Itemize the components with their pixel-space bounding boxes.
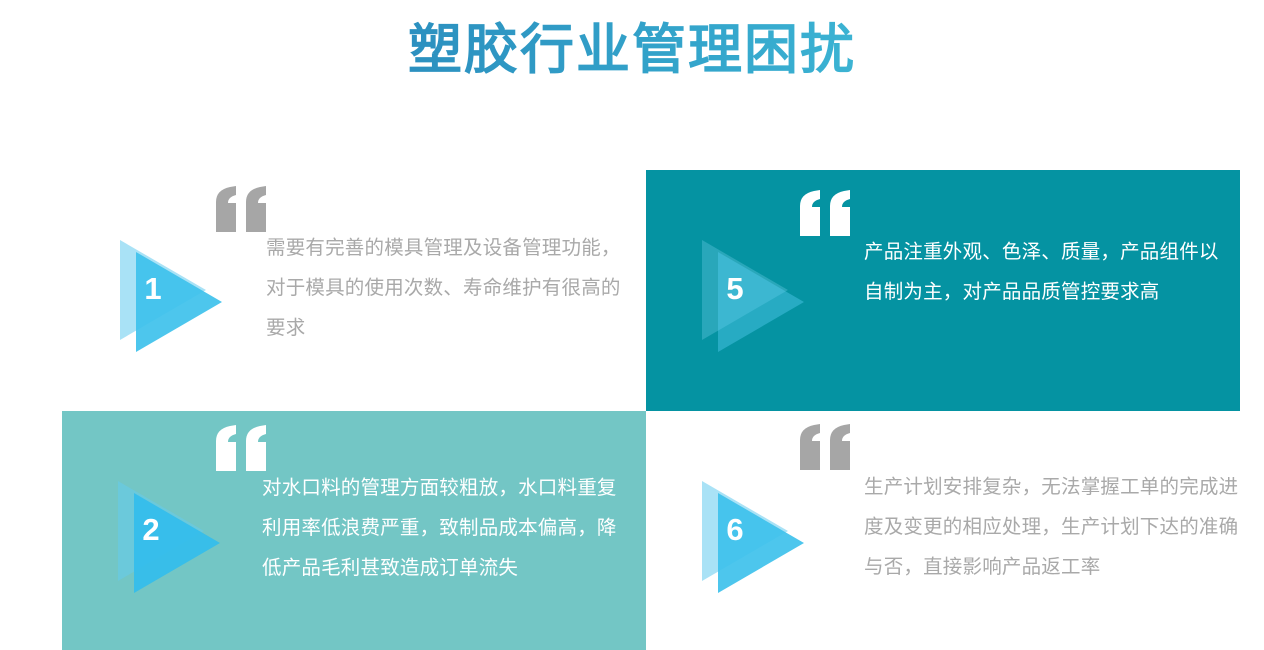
quote-open-icon <box>214 425 270 471</box>
item-number: 6 <box>718 514 752 545</box>
quote-open-icon <box>798 190 854 236</box>
quote-card-5[interactable]: 5 产品注重外观、色泽、质量，产品组件以自制为主，对产品品质管控要求高 <box>646 170 1240 411</box>
item-number: 2 <box>134 514 168 545</box>
quote-text: 产品注重外观、色泽、质量，产品组件以自制为主，对产品品质管控要求高 <box>864 232 1236 312</box>
quote-text: 需要有完善的模具管理及设备管理功能，对于模具的使用次数、寿命维护有很高的要求 <box>266 228 634 348</box>
play-arrow-icon: 1 <box>114 236 238 354</box>
item-number: 1 <box>136 273 170 304</box>
quote-card-1[interactable]: 1 需要有完善的模具管理及设备管理功能，对于模具的使用次数、寿命维护有很高的要求 <box>62 170 646 411</box>
play-arrow-icon: 2 <box>112 477 236 595</box>
quote-card-6[interactable]: 6 生产计划安排复杂，无法掌握工单的完成进度及变更的相应处理，生产计划下达的准确… <box>646 411 1240 650</box>
play-arrow-icon: 6 <box>696 477 820 595</box>
quote-open-icon <box>214 186 270 232</box>
play-arrow-icon: 5 <box>696 236 820 354</box>
item-number: 5 <box>718 273 752 304</box>
quote-card-2[interactable]: 2 对水口料的管理方面较粗放，水口料重复利用率低浪费严重，致制品成本偏高，降低产… <box>62 411 646 650</box>
quote-text: 生产计划安排复杂，无法掌握工单的完成进度及变更的相应处理，生产计划下达的准确与否… <box>864 467 1244 587</box>
quote-open-icon <box>798 424 854 470</box>
quote-text: 对水口料的管理方面较粗放，水口料重复利用率低浪费严重，致制品成本偏高，降低产品毛… <box>262 468 634 588</box>
slide-canvas: 塑胶行业管理困扰 1 需要有完善的模具管理及设备管理功能，对于模具的使用次数、寿… <box>0 0 1264 650</box>
page-title: 塑胶行业管理困扰 <box>0 18 1264 83</box>
